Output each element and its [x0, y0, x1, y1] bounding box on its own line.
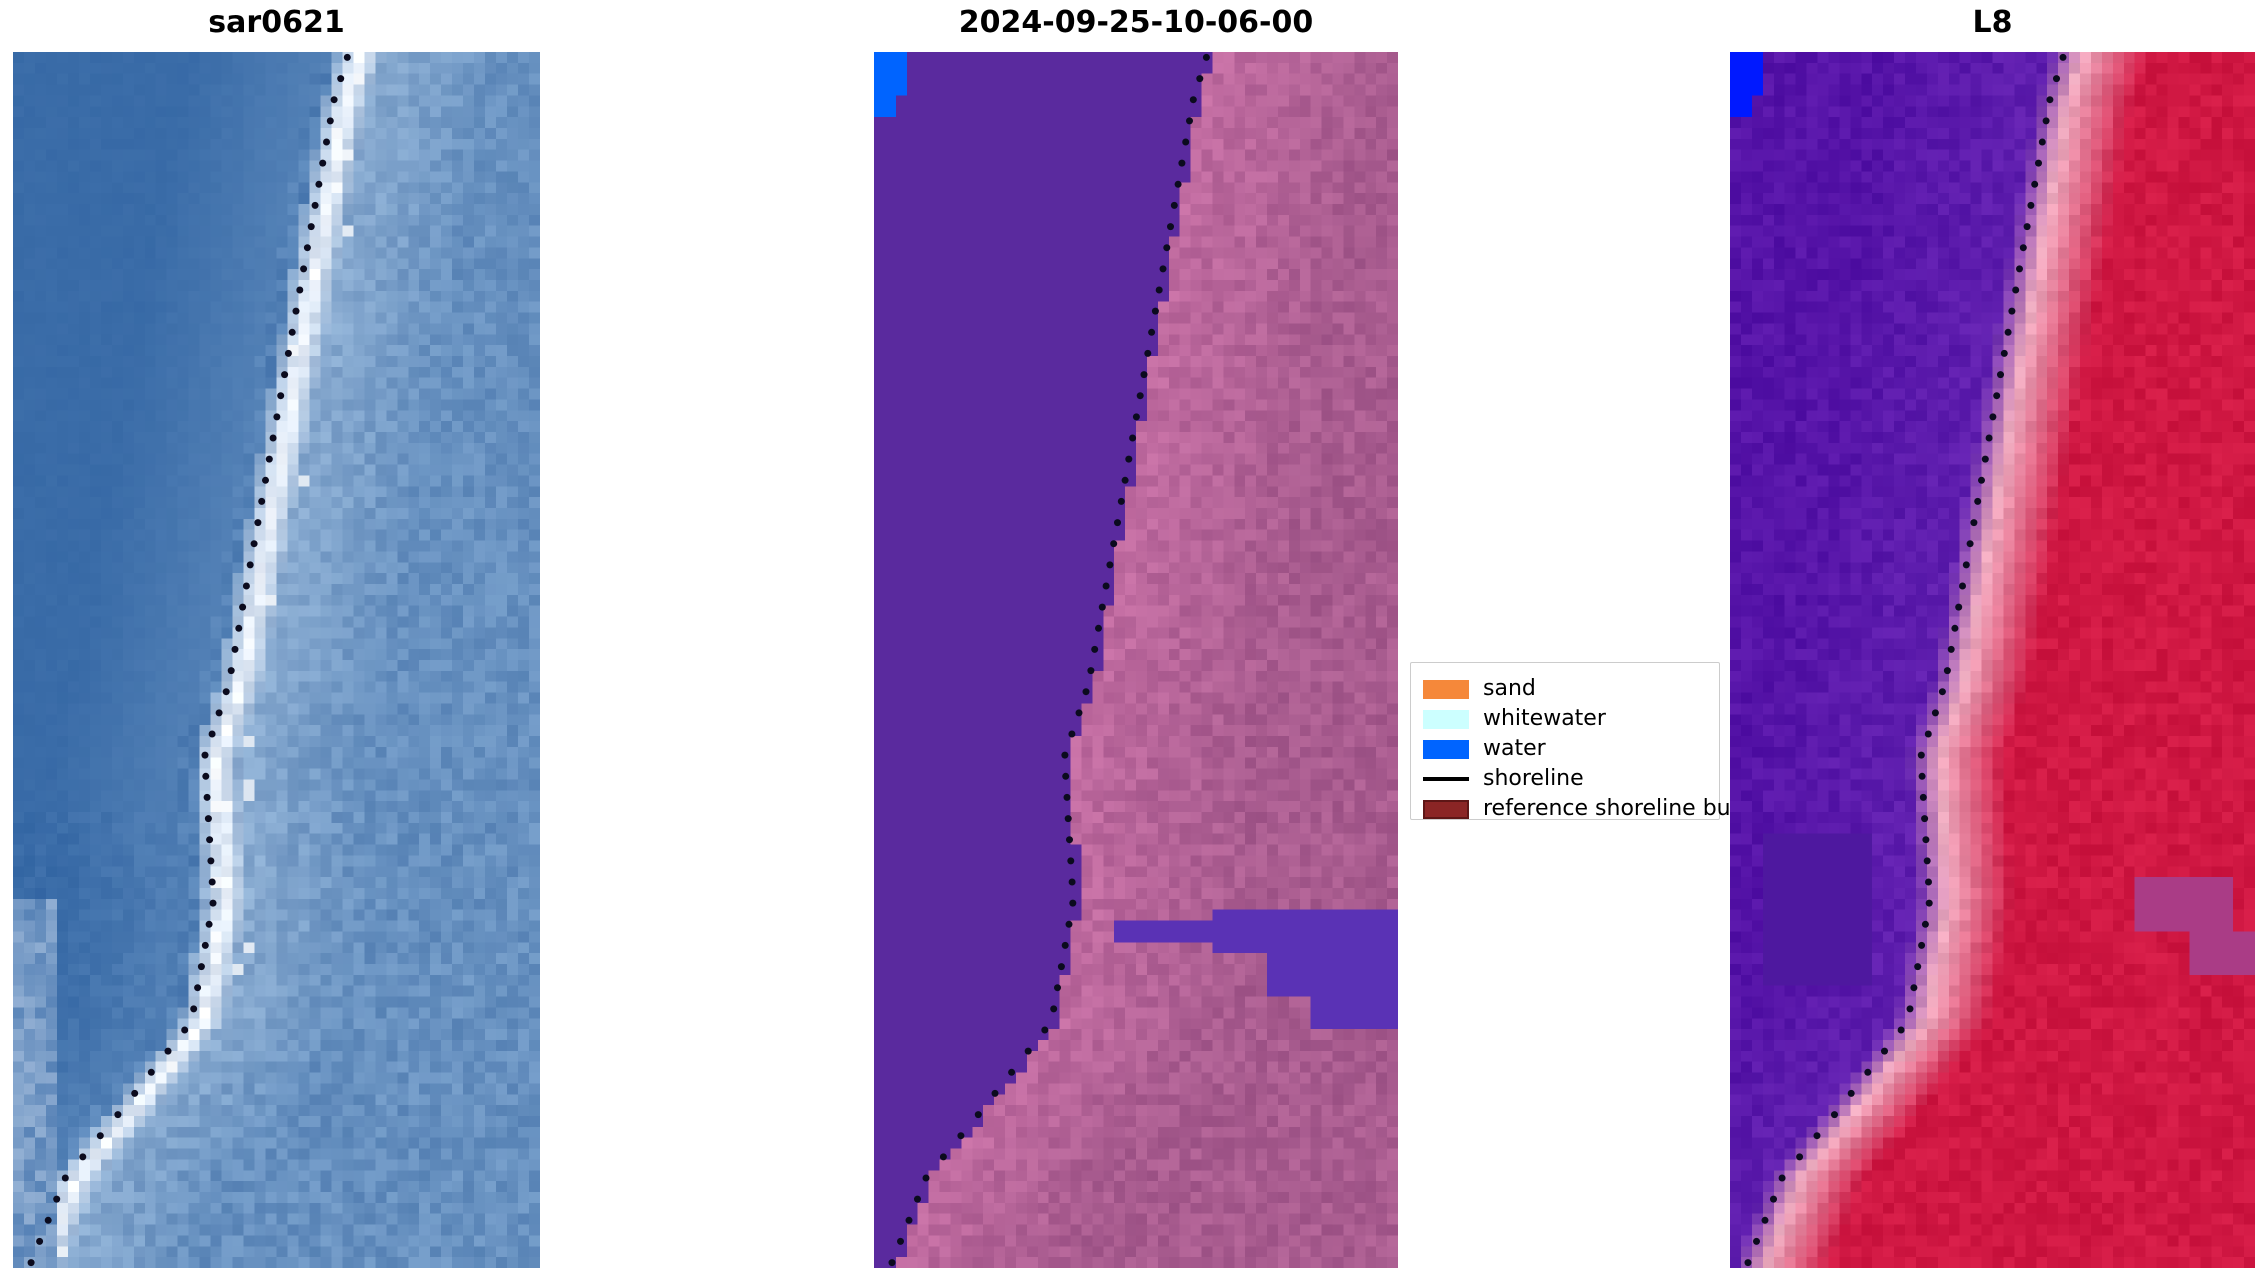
legend-item-sand: sand	[1423, 674, 1709, 704]
legend-swatch-icon	[1423, 680, 1469, 699]
legend-swatch-icon	[1423, 710, 1469, 729]
legend-label: sand	[1483, 678, 1536, 700]
panel-l8	[1730, 52, 2255, 1268]
legend: sandwhitewaterwatershorelinereference sh…	[1410, 662, 1720, 820]
legend-label: water	[1483, 738, 1546, 760]
legend-label: whitewater	[1483, 708, 1606, 730]
panel-title-sar: sar0621	[13, 8, 540, 38]
raster-image	[874, 52, 1398, 1268]
raster-image	[13, 52, 540, 1268]
legend-label: shoreline	[1483, 768, 1584, 790]
legend-item-water: water	[1423, 734, 1709, 764]
legend-swatch-icon	[1423, 740, 1469, 759]
panel-title-classified: 2024-09-25-10-06-00	[874, 8, 1398, 38]
legend-swatch-icon	[1423, 800, 1469, 819]
legend-label: reference shoreline buffer	[1483, 798, 1768, 820]
raster-image	[1730, 52, 2255, 1268]
panel-title-l8: L8	[1730, 8, 2255, 38]
legend-swatch-icon	[1423, 777, 1469, 781]
panel-classified	[874, 52, 1398, 1268]
panel-sar	[13, 52, 540, 1268]
legend-item-whitewater: whitewater	[1423, 704, 1709, 734]
legend-item-reference: reference shoreline buffer	[1423, 794, 1709, 824]
legend-item-shoreline: shoreline	[1423, 764, 1709, 794]
